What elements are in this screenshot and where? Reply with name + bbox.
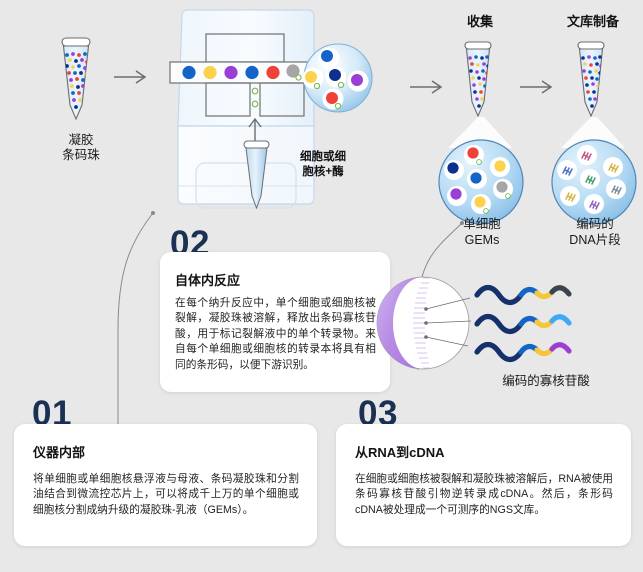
collect-label: 收集 xyxy=(437,14,523,29)
step-02-body: 在每个纳升反应中，单个细胞或细胞核被裂解，凝胶珠被溶解，释放出条码寡核苷酸，用于… xyxy=(175,296,376,373)
step-01-body: 将单细胞或单细胞核悬浮液与母液、条码凝胶珠和分割油结合到微流控芯片上，可以将成千… xyxy=(33,472,299,518)
step-02-title: 自体内反应 xyxy=(175,270,240,289)
gel-bead-tube-label: 凝胶 条码珠 xyxy=(40,133,122,163)
gel-bead-tube-icon xyxy=(50,35,110,130)
library-prep-label: 文库制备 xyxy=(548,14,638,29)
right-arrow-icon-1 xyxy=(112,66,152,88)
magnified-gem-bubble xyxy=(302,42,374,114)
step-01-title: 仪器内部 xyxy=(33,442,85,461)
step-03-body: 在细胞或细胞核被裂解和凝胶珠被溶解后，RNA被使用条码寡核苷酸引物逆转录成cDN… xyxy=(355,472,613,518)
chip-callout-label: 细胞或细 胞核+酶 xyxy=(287,150,359,180)
oligo-label: 编码的寡核苷酸 xyxy=(466,370,626,389)
right-arrow-icon-2 xyxy=(408,76,448,98)
oligo-strands xyxy=(474,282,584,364)
purple-gel-bead xyxy=(374,274,476,372)
diagram-canvas: 凝胶 条码珠 xyxy=(0,0,643,572)
step-03-title: 从RNA到cDNA xyxy=(355,442,445,461)
right-arrow-icon-3 xyxy=(518,76,558,98)
